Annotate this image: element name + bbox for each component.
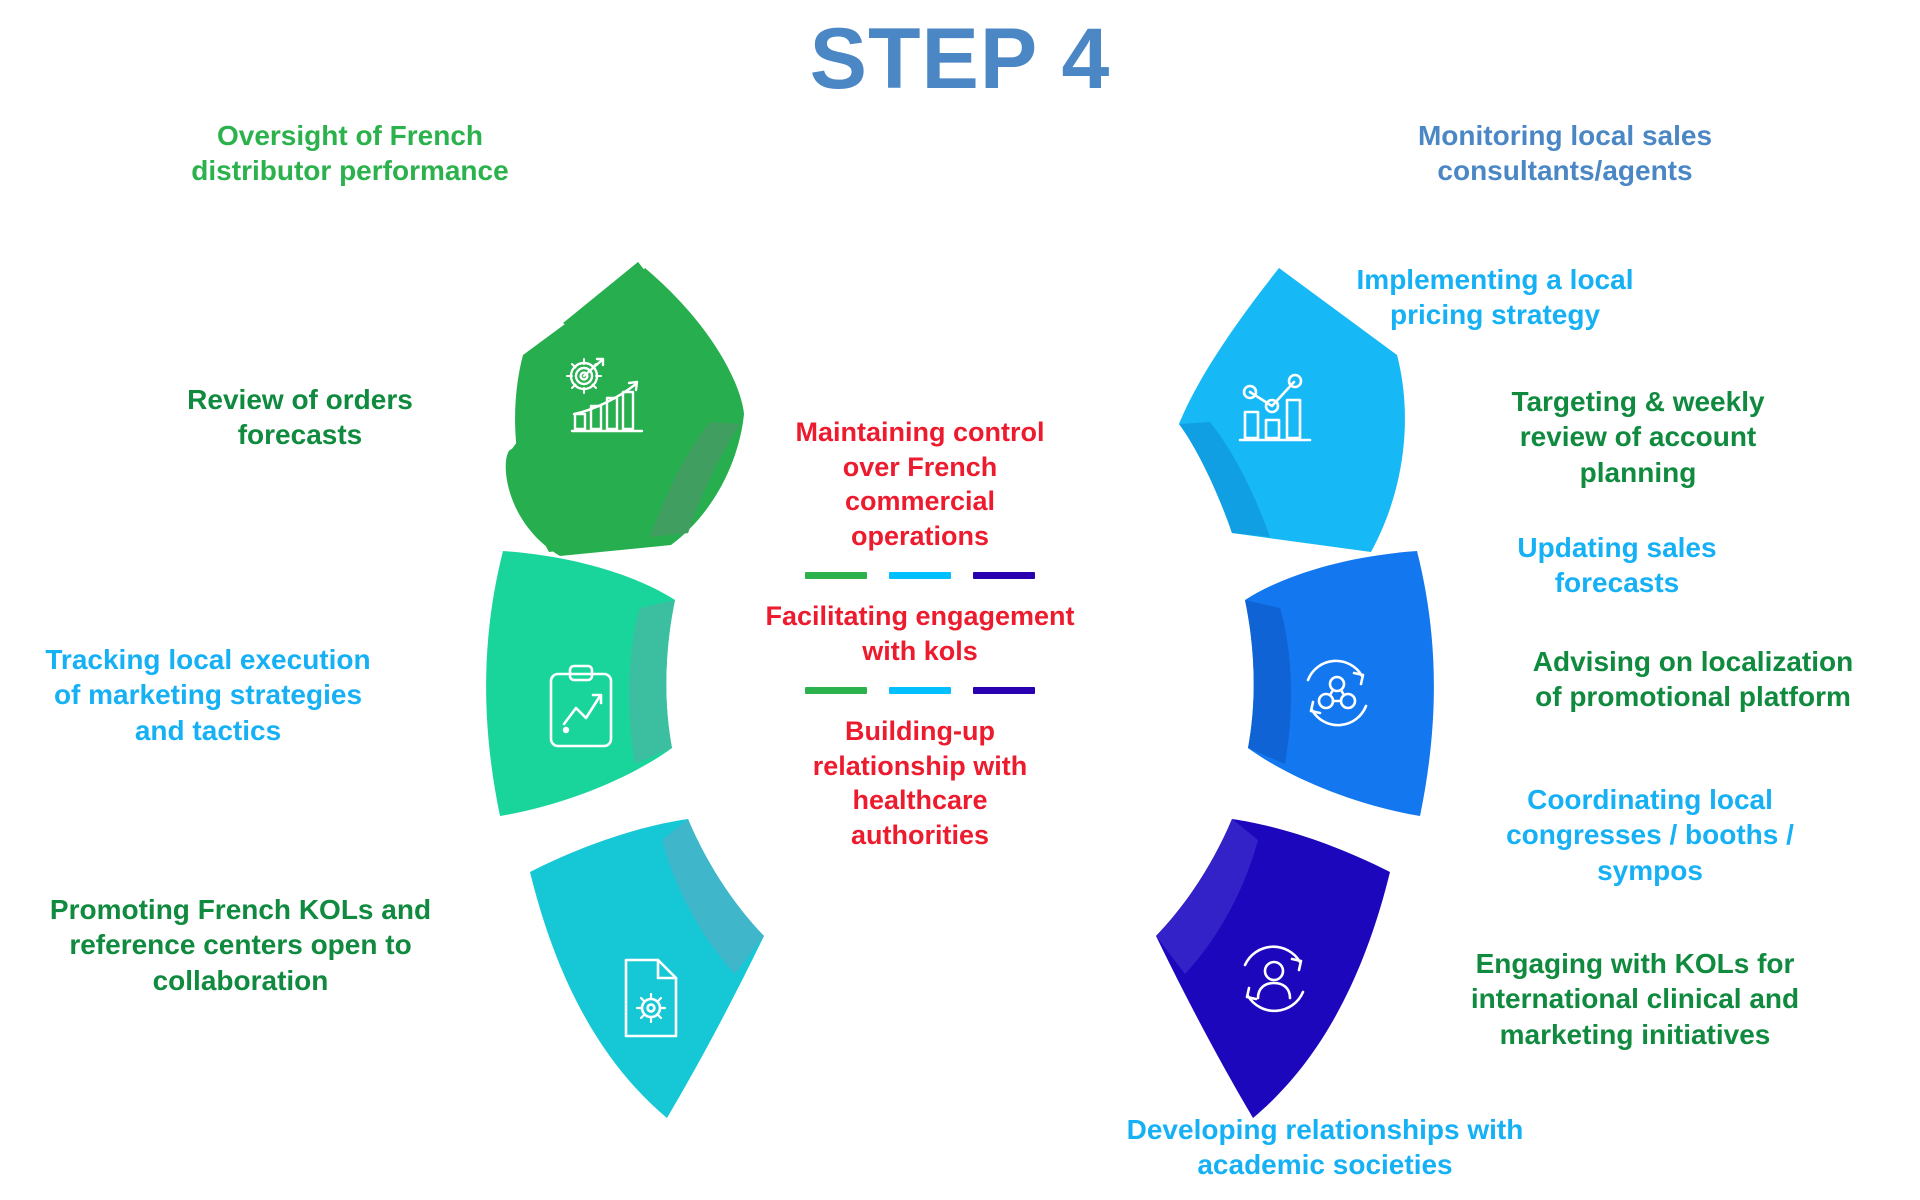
divider-bar-cyan	[889, 687, 951, 694]
label-updating-forecasts: Updating sales forecasts	[1452, 530, 1782, 601]
label-engaging-kols: Engaging with KOLs for international cli…	[1420, 946, 1850, 1052]
petal-indigo[interactable]	[1156, 819, 1390, 1118]
infographic-canvas: STEP 4	[0, 0, 1920, 1200]
petal-blue[interactable]	[1245, 551, 1434, 816]
label-monitoring-sales: Monitoring local sales consultants/agent…	[1355, 118, 1775, 189]
label-targeting-weekly: Targeting & weekly review of account pla…	[1468, 384, 1808, 490]
center-block-3: Building-up relationship with healthcare…	[740, 714, 1100, 852]
divider-1	[740, 572, 1100, 579]
center-text-maintaining-control: Maintaining control over French commerci…	[740, 415, 1100, 553]
petal-teal[interactable]	[530, 819, 764, 1118]
label-coordinating-congresses: Coordinating local congresses / booths /…	[1470, 782, 1830, 888]
center-text-facilitating-engagement: Facilitating engagement with kols	[740, 599, 1100, 668]
label-tracking-local: Tracking local execution of marketing st…	[8, 642, 408, 748]
divider-2	[740, 687, 1100, 694]
center-block-1: Maintaining control over French commerci…	[740, 415, 1100, 579]
divider-bar-green	[805, 687, 867, 694]
divider-bar-cyan	[889, 572, 951, 579]
petal-green[interactable]	[506, 262, 744, 556]
label-implementing-pricing: Implementing a local pricing strategy	[1300, 262, 1690, 333]
label-promoting-kols: Promoting French KOLs and reference cent…	[8, 892, 473, 998]
divider-bar-green	[805, 572, 867, 579]
center-text-building-up-relationship: Building-up relationship with healthcare…	[740, 714, 1100, 852]
divider-bar-indigo	[973, 687, 1035, 694]
label-advising-localization: Advising on localization of promotional …	[1478, 644, 1908, 715]
center-column: Maintaining control over French commerci…	[740, 415, 1100, 852]
label-review-orders: Review of orders forecasts	[120, 382, 480, 453]
center-block-2: Facilitating engagement with kols	[740, 599, 1100, 694]
label-oversight: Oversight of French distributor performa…	[130, 118, 570, 189]
divider-bar-indigo	[973, 572, 1035, 579]
petal-spring-green[interactable]	[486, 551, 675, 816]
label-developing-academic: Developing relationships with academic s…	[1080, 1112, 1570, 1183]
